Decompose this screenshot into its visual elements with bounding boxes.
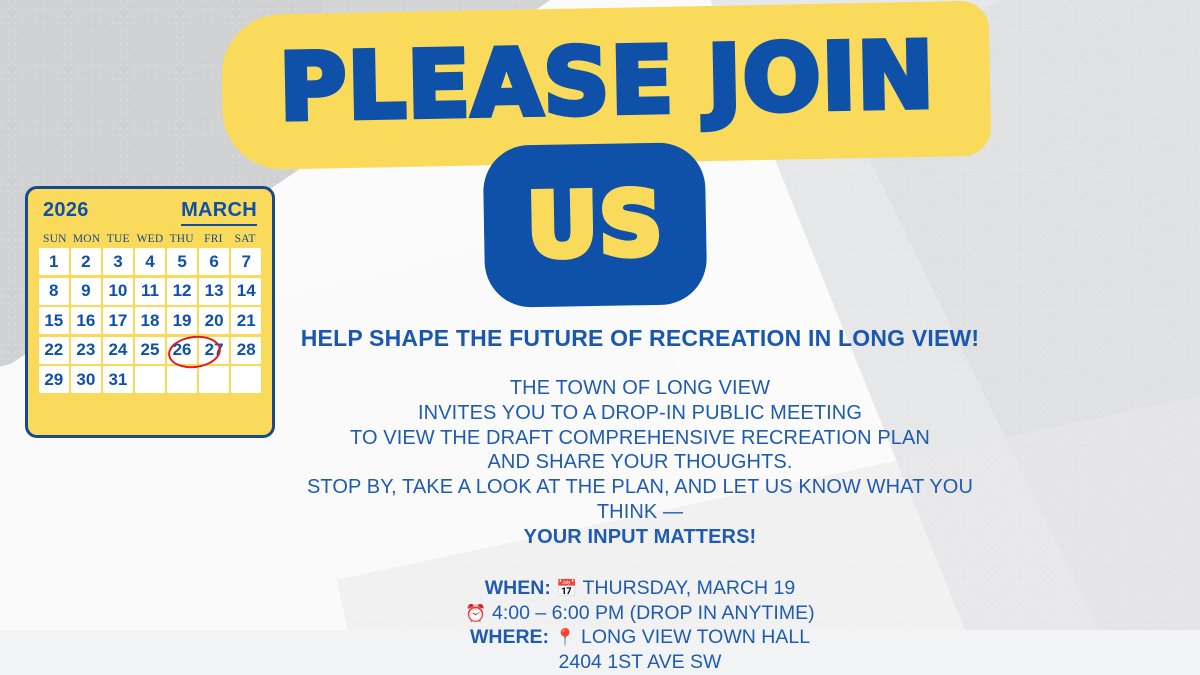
body-line: TO VIEW THE DRAFT COMPREHENSIVE RECREATI… [280, 426, 1000, 451]
body-copy: THE TOWN OF LONG VIEWINVITES YOU TO A DR… [280, 376, 1000, 550]
body-emphasis: YOUR INPUT MATTERS! [280, 525, 1000, 550]
calendar-day-10[interactable]: 10 [103, 278, 133, 305]
event-details: WHEN: 📅 THURSDAY, MARCH 19 ⏰ 4:00 – 6:00… [280, 576, 1000, 675]
calendar-day-7[interactable]: 7 [231, 248, 261, 275]
calendar-day-3[interactable]: 3 [103, 248, 133, 275]
calendar-header: 2026 MARCH [39, 199, 261, 226]
calendar-dow-fri: FRI [198, 233, 230, 245]
calendar-day-18[interactable]: 18 [135, 307, 165, 334]
body-line: THE TOWN OF LONG VIEW [280, 376, 1000, 401]
calendar-day-24[interactable]: 24 [103, 337, 133, 364]
calendar-day-26[interactable]: 26 [167, 337, 197, 364]
calendar-year: 2026 [43, 199, 89, 222]
calendar-day-8[interactable]: 8 [39, 278, 69, 305]
calendar-dow-thu: THU [166, 233, 198, 245]
calendar-day-29[interactable]: 29 [39, 366, 69, 393]
alarm-clock-icon: ⏰ [465, 604, 486, 624]
calendar-dow-wed: WED [134, 233, 166, 245]
calendar-day-30[interactable]: 30 [71, 366, 101, 393]
calendar-day-1[interactable]: 1 [39, 248, 69, 275]
calendar-day-15[interactable]: 15 [39, 307, 69, 334]
time-value: 4:00 – 6:00 PM (DROP IN ANYTIME) [492, 602, 815, 624]
map-pin-icon: 📍 [554, 628, 575, 648]
calendar-day-17[interactable]: 17 [103, 307, 133, 334]
detail-where: WHERE: 📍 LONG VIEW TOWN HALL [280, 625, 1000, 650]
calendar-day-6[interactable]: 6 [199, 248, 229, 275]
calendar-dow-mon: MON [71, 233, 103, 245]
calendar-day-31[interactable]: 31 [103, 366, 133, 393]
calendar-icon: 📅 [556, 579, 577, 599]
calendar-day-13[interactable]: 13 [199, 278, 229, 305]
detail-address: 2404 1ST AVE SW [280, 650, 1000, 675]
calendar-day-16[interactable]: 16 [71, 307, 101, 334]
body-line: STOP BY, TAKE A LOOK AT THE PLAN, AND LE… [280, 475, 1000, 525]
calendar-card: 2026 MARCH SUNMONTUEWEDTHUFRISAT 1234567… [25, 186, 275, 438]
subheadline: HELP SHAPE THE FUTURE OF RECREATION IN L… [280, 325, 1000, 352]
body-line: INVITES YOU TO A DROP-IN PUBLIC MEETING [280, 401, 1000, 426]
headline-please-join: PLEASE JOIN [251, 15, 963, 149]
calendar-day-empty [199, 366, 229, 393]
calendar-day-empty [231, 366, 261, 393]
calendar-day-19[interactable]: 19 [167, 307, 197, 334]
calendar-day-grid: 1234567891011121314151617181920212223242… [39, 248, 261, 393]
calendar-day-12[interactable]: 12 [167, 278, 197, 305]
when-value: THURSDAY, MARCH 19 [583, 577, 796, 599]
calendar-day-23[interactable]: 23 [71, 337, 101, 364]
headline-us-label: US [526, 180, 664, 270]
calendar-day-4[interactable]: 4 [135, 248, 165, 275]
calendar-day-21[interactable]: 21 [231, 307, 261, 334]
calendar-dow-tue: TUE [102, 233, 134, 245]
headline-us-badge: US [483, 142, 708, 308]
body-line: AND SHARE YOUR THOUGHTS. [280, 450, 1000, 475]
calendar-day-empty [167, 366, 197, 393]
calendar-day-25[interactable]: 25 [135, 337, 165, 364]
detail-time: ⏰ 4:00 – 6:00 PM (DROP IN ANYTIME) [280, 601, 1000, 626]
calendar-day-22[interactable]: 22 [39, 337, 69, 364]
invitation-copy: HELP SHAPE THE FUTURE OF RECREATION IN L… [280, 325, 1000, 675]
calendar-day-5[interactable]: 5 [167, 248, 197, 275]
calendar-day-27[interactable]: 27 [199, 337, 229, 364]
calendar-month: MARCH [181, 199, 257, 221]
calendar-day-11[interactable]: 11 [135, 278, 165, 305]
calendar-day-2[interactable]: 2 [71, 248, 101, 275]
when-label: WHEN: [485, 577, 551, 599]
calendar-weekday-header: SUNMONTUEWEDTHUFRISAT [39, 233, 261, 245]
detail-when: WHEN: 📅 THURSDAY, MARCH 19 [280, 576, 1000, 601]
calendar-day-20[interactable]: 20 [199, 307, 229, 334]
calendar-day-9[interactable]: 9 [71, 278, 101, 305]
calendar-month-wrap: MARCH [181, 200, 257, 226]
calendar-dow-sat: SAT [229, 233, 261, 245]
calendar-day-14[interactable]: 14 [231, 278, 261, 305]
calendar-day-28[interactable]: 28 [231, 337, 261, 364]
calendar-day-empty [135, 366, 165, 393]
calendar-dow-sun: SUN [39, 233, 71, 245]
